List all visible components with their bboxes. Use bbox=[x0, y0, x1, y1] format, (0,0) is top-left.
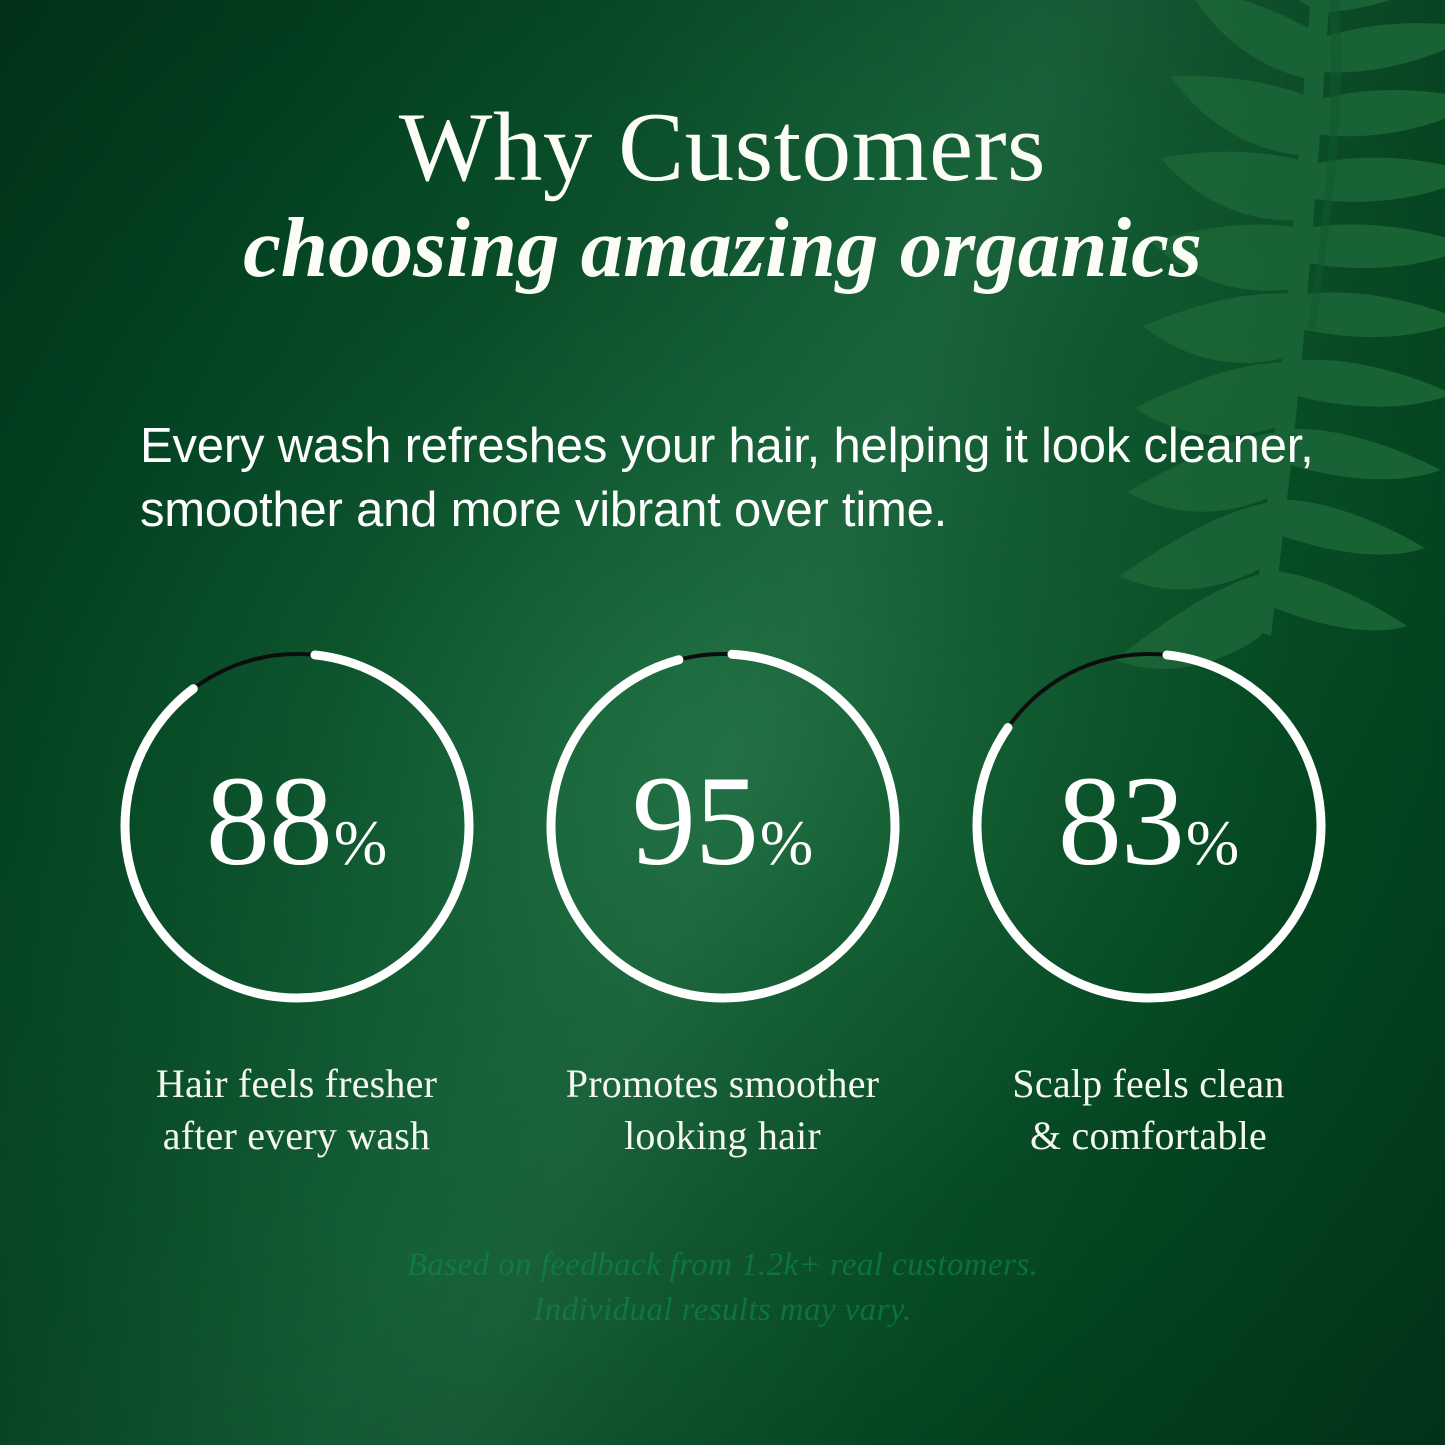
dial-value: 83% bbox=[963, 757, 1335, 885]
stat-caption: Hair feels fresher after every wash bbox=[156, 1058, 437, 1162]
footnote-disclaimer: Based on feedback from 1.2k+ real custom… bbox=[0, 1243, 1445, 1333]
stats-row: 88% Hair feels fresher after every wash … bbox=[0, 640, 1445, 1162]
dial-number: 88 bbox=[206, 750, 332, 892]
dial-percent-symbol: % bbox=[1186, 807, 1239, 878]
dial-percent-symbol: % bbox=[760, 807, 813, 878]
stat-caption: Scalp feels clean & comfortable bbox=[1012, 1058, 1284, 1162]
dial-number: 95 bbox=[632, 750, 758, 892]
stat-item: 88% Hair feels fresher after every wash bbox=[105, 640, 489, 1162]
subheadline: Every wash refreshes your hair, helping … bbox=[140, 415, 1315, 542]
dial-percent-symbol: % bbox=[334, 807, 387, 878]
dial-hair-fresher: 88% bbox=[111, 640, 483, 1012]
headline-line-2: choosing amazing organics bbox=[0, 201, 1445, 296]
headline-line-1: Why Customers bbox=[0, 98, 1445, 197]
dial-scalp-clean: 83% bbox=[963, 640, 1335, 1012]
stat-caption: Promotes smoother looking hair bbox=[566, 1058, 879, 1162]
stat-item: 83% Scalp feels clean & comfortable bbox=[957, 640, 1341, 1162]
dial-number: 83 bbox=[1058, 750, 1184, 892]
page-title: Why Customers choosing amazing organics bbox=[0, 98, 1445, 296]
promo-card: Why Customers choosing amazing organics … bbox=[0, 0, 1445, 1445]
dial-value: 88% bbox=[111, 757, 483, 885]
dial-smoother-hair: 95% bbox=[537, 640, 909, 1012]
dial-value: 95% bbox=[537, 757, 909, 885]
stat-item: 95% Promotes smoother looking hair bbox=[531, 640, 915, 1162]
